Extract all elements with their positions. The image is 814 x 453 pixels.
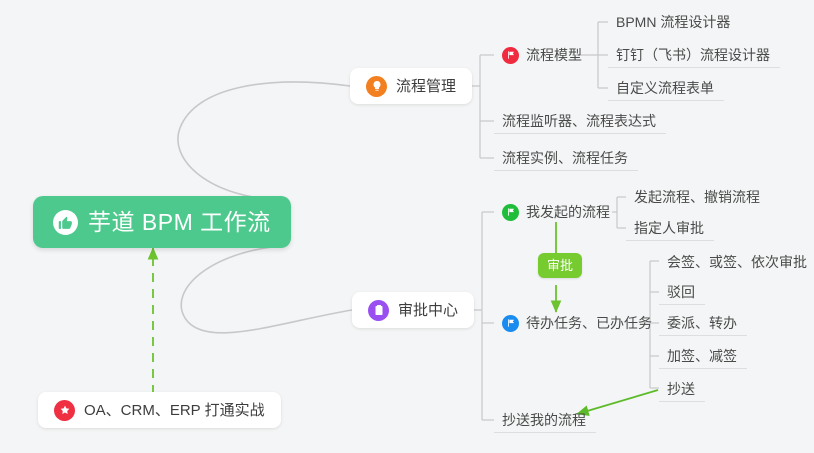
node-cc-to-me-label: 抄送我的流程 <box>502 413 586 427</box>
branch-process-management-label: 流程管理 <box>396 79 456 94</box>
node-my-initiated-process-label: 我发起的流程 <box>526 205 610 219</box>
node-cc-to-me[interactable]: 抄送我的流程 <box>494 407 596 433</box>
branch-approval-center[interactable]: 审批中心 <box>352 292 474 328</box>
node-dingtalk-feishu-designer[interactable]: 钉钉（飞书）流程设计器 <box>608 42 780 68</box>
node-delegate-transfer-label: 委派、转办 <box>667 316 737 330</box>
node-process-instance-task[interactable]: 流程实例、流程任务 <box>494 145 638 171</box>
node-custom-process-form-label: 自定义流程表单 <box>616 81 714 95</box>
flag-icon <box>502 47 519 64</box>
node-assigned-approval[interactable]: 指定人审批 <box>626 215 714 241</box>
node-countersign-or-sequential-label: 会签、或签、依次审批 <box>667 255 807 269</box>
node-reject[interactable]: 驳回 <box>659 279 705 305</box>
node-start-cancel-process-label: 发起流程、撤销流程 <box>634 190 760 204</box>
node-dingtalk-feishu-designer-label: 钉钉（飞书）流程设计器 <box>616 48 770 62</box>
mindmap-canvas: 芋道 BPM 工作流 流程管理 流程模型 BPMN 流程设计器 钉钉（飞书）流程… <box>0 0 814 453</box>
node-bpmn-designer-label: BPMN 流程设计器 <box>616 15 730 29</box>
flag-icon <box>502 315 519 332</box>
star-icon <box>54 400 75 421</box>
thumbs-up-icon <box>53 210 78 235</box>
node-integration-practice-label: OA、CRM、ERP 打通实战 <box>84 403 265 418</box>
node-todo-done-tasks[interactable]: 待办任务、已办任务 <box>494 310 662 336</box>
node-todo-done-tasks-label: 待办任务、已办任务 <box>526 316 652 330</box>
edge-root-to-approval-center <box>181 246 352 333</box>
node-countersign-or-sequential[interactable]: 会签、或签、依次审批 <box>659 250 814 274</box>
edge-root-to-process-management <box>178 82 350 200</box>
root-node[interactable]: 芋道 BPM 工作流 <box>33 196 291 248</box>
node-start-cancel-process[interactable]: 发起流程、撤销流程 <box>626 185 770 209</box>
lightbulb-icon <box>366 76 387 97</box>
node-process-model-label: 流程模型 <box>526 48 582 62</box>
branch-process-management[interactable]: 流程管理 <box>350 68 472 104</box>
clipboard-icon <box>368 300 389 321</box>
node-integration-practice[interactable]: OA、CRM、ERP 打通实战 <box>38 392 281 428</box>
node-add-remove-sign-label: 加签、减签 <box>667 349 737 363</box>
root-label: 芋道 BPM 工作流 <box>88 211 271 234</box>
approval-tag-label: 审批 <box>547 258 573 273</box>
node-custom-process-form[interactable]: 自定义流程表单 <box>608 75 724 101</box>
node-delegate-transfer[interactable]: 委派、转办 <box>659 310 747 336</box>
node-reject-label: 驳回 <box>667 285 695 299</box>
node-process-listener-expression[interactable]: 流程监听器、流程表达式 <box>494 108 666 134</box>
node-assigned-approval-label: 指定人审批 <box>634 221 704 235</box>
node-process-model[interactable]: 流程模型 <box>494 42 592 68</box>
node-bpmn-designer[interactable]: BPMN 流程设计器 <box>608 10 740 34</box>
approval-tag[interactable]: 审批 <box>538 253 582 278</box>
branch-approval-center-label: 审批中心 <box>398 303 458 318</box>
node-add-remove-sign[interactable]: 加签、减签 <box>659 343 747 369</box>
node-process-listener-expression-label: 流程监听器、流程表达式 <box>502 114 656 128</box>
node-my-initiated-process[interactable]: 我发起的流程 <box>494 199 620 225</box>
flag-icon <box>502 204 519 221</box>
node-cc-label: 抄送 <box>667 382 695 396</box>
node-cc[interactable]: 抄送 <box>659 376 705 402</box>
node-process-instance-task-label: 流程实例、流程任务 <box>502 151 628 165</box>
